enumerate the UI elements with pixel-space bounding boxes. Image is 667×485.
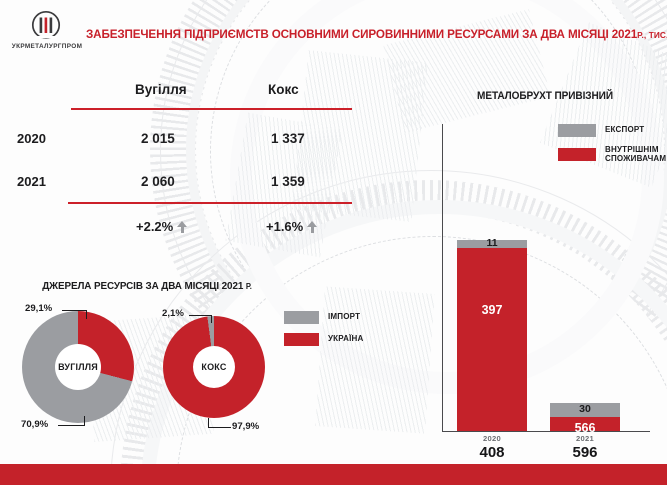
leader-line <box>189 315 211 316</box>
legend-swatch-red <box>284 333 319 346</box>
leader-line <box>62 310 86 311</box>
leader-line <box>208 418 209 428</box>
cell-coal-2020: 2 015 <box>141 131 175 146</box>
infographic-canvas: УКРМЕТАЛУРГПРОМ ЗАБЕЗПЕЧЕННЯ ПІДПРИЄМСТВ… <box>0 0 667 485</box>
legend-item-import: ІМПОРТ <box>284 311 363 324</box>
bar-segment-export: 30 <box>550 403 620 417</box>
bar-total-2020: 408 <box>447 444 537 461</box>
legend-label-ukraine: УКРАЇНА <box>328 335 363 344</box>
cell-coke-2020: 1 337 <box>271 131 305 146</box>
page-title: ЗАБЕЗПЕЧЕННЯ ПІДПРИЄМСТВ ОСНОВНИМИ СИРОВ… <box>86 27 641 41</box>
legend-item-domestic: ВНУТРІШНІМСПОЖИВАЧАМ <box>558 146 666 164</box>
table-header-coke: Кокс <box>268 82 299 97</box>
bar-x-label-2021: 2021 <box>540 434 630 443</box>
leader-line <box>84 416 85 426</box>
legend-item-ukraine: УКРАЇНА <box>284 333 363 346</box>
leader-line <box>211 315 212 323</box>
bar-total-2021: 596 <box>540 444 630 461</box>
bar-column-2021: 30566 <box>550 403 620 431</box>
legend-label-import: ІМПОРТ <box>328 313 360 322</box>
bar-column-2020: 11397 <box>457 240 527 431</box>
change-coke: +1.6% <box>266 219 317 234</box>
legend-label-export: ЕКСПОРТ <box>605 126 644 135</box>
donut-coal-import-pct: 70,9% <box>21 419 48 430</box>
page-title-main: ЗАБЕЗПЕЧЕННЯ ПІДПРИЄМСТВ ОСНОВНИМИ СИРОВ… <box>86 27 637 41</box>
legend-swatch-gray <box>558 124 596 137</box>
donut-coke-ukraine-pct: 97,9% <box>232 421 259 432</box>
bar-x-label-2020: 2020 <box>447 434 537 443</box>
leader-line <box>58 425 84 426</box>
brand-logo: УКРМЕТАЛУРГПРОМ <box>10 10 84 56</box>
bar-chart-y-axis <box>442 124 443 432</box>
bar-segment-domestic: 566 <box>550 417 620 431</box>
donut-coke-import-pct: 2,1% <box>162 308 184 319</box>
legend-swatch-red <box>558 148 596 161</box>
donut-legend: ІМПОРТ УКРАЇНА <box>284 311 363 355</box>
donut-chart-coal: ВУГІЛЛЯ <box>22 311 134 423</box>
cell-coke-2021: 1 359 <box>271 174 305 189</box>
bar-chart-legend: ЕКСПОРТ ВНУТРІШНІМСПОЖИВАЧАМ <box>558 124 666 173</box>
table-top-rule <box>71 108 352 110</box>
donuts-title-main: ДЖЕРЕЛА РЕСУРСІВ ЗА ДВА МІСЯЦІ 2021 <box>42 281 243 292</box>
bar-segment-domestic: 397 <box>457 248 527 431</box>
donuts-title-suffix: Р. <box>246 282 252 291</box>
donut-coal-ukraine-pct: 29,1% <box>25 303 52 314</box>
footer-accent-bar <box>0 464 667 485</box>
ukrmetalurgprom-logo-icon <box>29 10 63 42</box>
legend-label-domestic: ВНУТРІШНІМСПОЖИВАЧАМ <box>605 146 666 164</box>
legend-swatch-gray <box>284 311 319 324</box>
change-coal-value: +2.2% <box>136 219 173 234</box>
bar-segment-export: 11 <box>457 240 527 248</box>
bar-chart-title: МЕТАЛОБРУХТ ПРИВІЗНИЙ <box>436 90 655 102</box>
brand-name: УКРМЕТАЛУРГПРОМ <box>10 43 84 50</box>
donut-center-label-coke: КОКС <box>193 346 235 388</box>
row-year-2020: 2020 <box>17 131 46 146</box>
donuts-title: ДЖЕРЕЛА РЕСУРСІВ ЗА ДВА МІСЯЦІ 2021 Р. <box>28 281 266 292</box>
donut-chart-coke: КОКС <box>163 316 265 418</box>
change-coke-value: +1.6% <box>266 219 303 234</box>
row-year-2021: 2021 <box>17 174 46 189</box>
bar-segment-export-label: 30 <box>550 403 620 415</box>
arrow-up-icon <box>307 221 317 233</box>
table-header-coal: Вугілля <box>135 82 187 97</box>
table-bottom-rule <box>68 202 352 204</box>
page-title-unit: Р., ТИС.Т <box>637 30 667 40</box>
cell-coal-2021: 2 060 <box>141 174 175 189</box>
leader-line <box>86 310 87 319</box>
legend-item-export: ЕКСПОРТ <box>558 124 666 137</box>
arrow-up-icon <box>177 221 187 233</box>
change-coal: +2.2% <box>136 219 187 234</box>
leader-line <box>208 427 231 428</box>
donut-center-label-coal: ВУГІЛЛЯ <box>55 344 101 390</box>
bar-segment-domestic-label: 397 <box>457 303 527 317</box>
